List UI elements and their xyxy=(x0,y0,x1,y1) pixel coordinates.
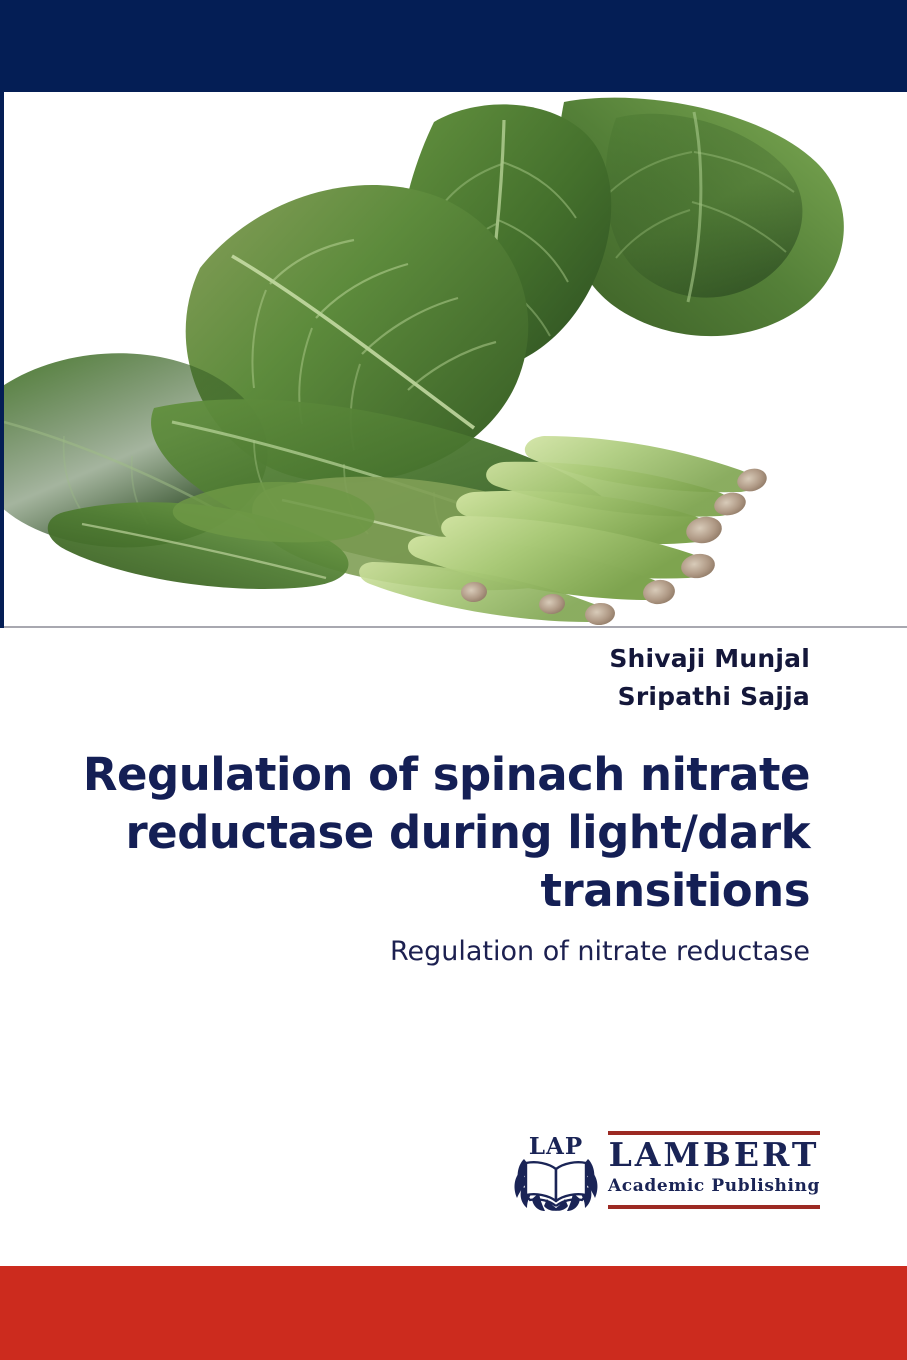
publisher-wordmark: LAMBERT Academic Publishing xyxy=(608,1131,820,1209)
spinach-illustration xyxy=(4,92,907,626)
photo-bottom-rule xyxy=(4,626,907,628)
cover-text-block: Shivaji Munjal Sripathi Sajja Regulation… xyxy=(0,640,907,972)
book-title-line-3: transitions xyxy=(0,862,810,920)
publisher-logo: LAP LAMBERT Academic Publishing xyxy=(510,1127,820,1213)
wordmark-rule-bottom xyxy=(608,1205,820,1209)
spinach-photo xyxy=(4,92,907,626)
photo-left-navy-edge xyxy=(0,92,4,628)
top-navy-band xyxy=(0,0,907,92)
publisher-name: LAMBERT xyxy=(608,1137,820,1173)
book-title-line-2: reductase during light/dark xyxy=(0,804,810,862)
book-title: Regulation of spinach nitrate reductase … xyxy=(0,746,810,920)
svg-text:LAP: LAP xyxy=(529,1133,583,1160)
publisher-tagline: Academic Publishing xyxy=(608,1175,820,1197)
book-subtitle: Regulation of nitrate reductase xyxy=(0,932,810,972)
cover-photo-panel xyxy=(0,92,907,628)
lap-emblem-icon: LAP xyxy=(510,1129,602,1211)
author-name-2: Sripathi Sajja xyxy=(0,678,810,716)
bottom-red-band xyxy=(0,1266,907,1360)
author-name-1: Shivaji Munjal xyxy=(0,640,810,678)
book-title-line-1: Regulation of spinach nitrate xyxy=(0,746,810,804)
